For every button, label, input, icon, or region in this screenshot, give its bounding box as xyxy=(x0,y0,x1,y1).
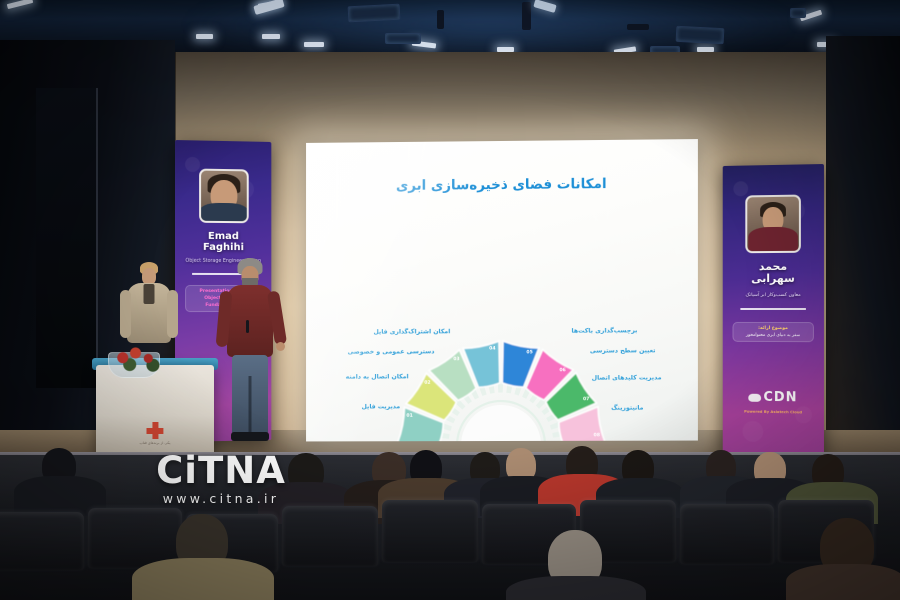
watermark-url: www.citna.ir xyxy=(136,491,306,506)
portrait-torso xyxy=(200,203,248,222)
pendant-light xyxy=(437,10,444,29)
presenter-with-microphone xyxy=(218,258,282,448)
audience-shoulders-front xyxy=(786,564,900,600)
cdn-logo-text: CDN xyxy=(763,390,797,405)
topic-text: سفر به دنیای ابری محتوامحور xyxy=(736,333,811,338)
seat xyxy=(680,504,774,564)
banner-right-mohammad-sohrabi: محمد سهرابی معاون کسب‌و‌کار ابر آسیاتک م… xyxy=(723,164,824,456)
ceiling-light xyxy=(262,34,280,39)
arc-label-02: امکان اتصال به دامنه xyxy=(346,373,409,380)
speaker-portrait xyxy=(199,169,249,224)
pendant-light xyxy=(522,2,531,30)
arc-label-05: برچسب‌گذاری باکت‌ها xyxy=(572,327,638,334)
banner-right-topic-box: موضوع ارائه: سفر به دنیای ابری محتوامحور xyxy=(733,322,814,342)
hand xyxy=(276,342,285,351)
arc-label-06: تعیین سطح دسترسی xyxy=(590,347,656,354)
right-wall-dark xyxy=(826,36,900,456)
arc-label-08: مانیتورینگ xyxy=(611,405,643,412)
arc-diagram: 0102030405060708 امکان اشتراک‌گذاری فایل… xyxy=(352,326,652,441)
cdn-logo: CDN xyxy=(723,389,824,405)
portrait-face xyxy=(747,197,799,252)
seat xyxy=(0,512,84,570)
arc-segment-number-07: 07 xyxy=(583,396,589,402)
pendant-light xyxy=(627,24,649,30)
arm-right xyxy=(167,290,178,338)
arc-label-03: دسترسی عمومی و خصوصی xyxy=(348,348,435,355)
speaker-portrait xyxy=(745,195,801,254)
ceiling-vent xyxy=(385,33,421,44)
ceiling-light xyxy=(304,42,324,47)
watermark: CiTNA www.citna.ir xyxy=(136,452,306,506)
watermark-logo: CiTNA xyxy=(136,452,306,489)
ceiling-vent xyxy=(676,26,725,44)
arc-segment-number-05: 05 xyxy=(526,349,532,355)
arc-segment-number-06: 06 xyxy=(559,367,565,373)
name-line-2: Faghihi xyxy=(203,242,244,253)
name-line-2: سهرابی xyxy=(751,272,795,285)
seat xyxy=(382,500,478,562)
ceiling-light xyxy=(196,34,213,39)
portrait-suit xyxy=(748,227,798,251)
banner-left-name: Emad Faghihi xyxy=(175,231,271,254)
seat xyxy=(282,506,378,566)
arc-segment-number-04: 04 xyxy=(489,345,495,351)
arc-segment-number-03: 03 xyxy=(453,356,459,362)
name-line-1: Emad xyxy=(208,231,239,242)
arc-segment-number-01: 01 xyxy=(406,413,412,419)
ceiling-light xyxy=(7,0,33,9)
lectern: یکی از برند‌های فناپ xyxy=(96,365,214,457)
host-at-lectern xyxy=(118,262,180,372)
banner-right-name: محمد سهرابی xyxy=(723,261,824,286)
arm-left xyxy=(120,290,131,338)
cloud-icon xyxy=(749,393,762,401)
projection-screen: امکانات فضای ذخیره‌سازی ابری 01020304050… xyxy=(306,139,698,441)
divider xyxy=(741,308,806,310)
arc-label-07: مدیریت کلیدهای اتصال xyxy=(592,374,662,381)
microphone-icon[interactable] xyxy=(246,320,249,333)
fanap-cross-icon xyxy=(146,422,163,439)
audience-shoulders-front xyxy=(132,558,274,600)
arc-label-04: امکان اشتراک‌گذاری فایل xyxy=(373,328,450,335)
arc-label-01: مدیریت فایل xyxy=(362,403,401,410)
audience-shoulders-front xyxy=(506,576,646,600)
slide-title: امکانات فضای ذخیره‌سازی ابری xyxy=(306,175,698,194)
shirt-collar xyxy=(144,284,155,304)
ceiling-vent xyxy=(790,8,806,18)
doorway xyxy=(36,88,98,388)
torso-maroon-jacket xyxy=(227,285,273,357)
banner-right-role: معاون کسب‌و‌کار ابر آسیاتک xyxy=(723,293,824,298)
leg-gap xyxy=(249,376,252,434)
portrait-face xyxy=(201,171,247,222)
arc-segment-number-02: 02 xyxy=(424,380,430,386)
topic-heading: موضوع ارائه: xyxy=(736,326,811,331)
lectern-logo: یکی از برند‌های فناپ xyxy=(139,422,170,445)
ceiling-vent xyxy=(348,4,401,23)
conference-photo-scene: امکانات فضای ذخیره‌سازی ابری 01020304050… xyxy=(0,0,900,600)
arc-segment-number-08: 08 xyxy=(594,432,600,438)
arc-diagram-svg: 0102030405060708 xyxy=(352,326,652,441)
lectern-logo-caption: یکی از برند‌های فناپ xyxy=(139,441,170,445)
shoes xyxy=(231,432,269,441)
